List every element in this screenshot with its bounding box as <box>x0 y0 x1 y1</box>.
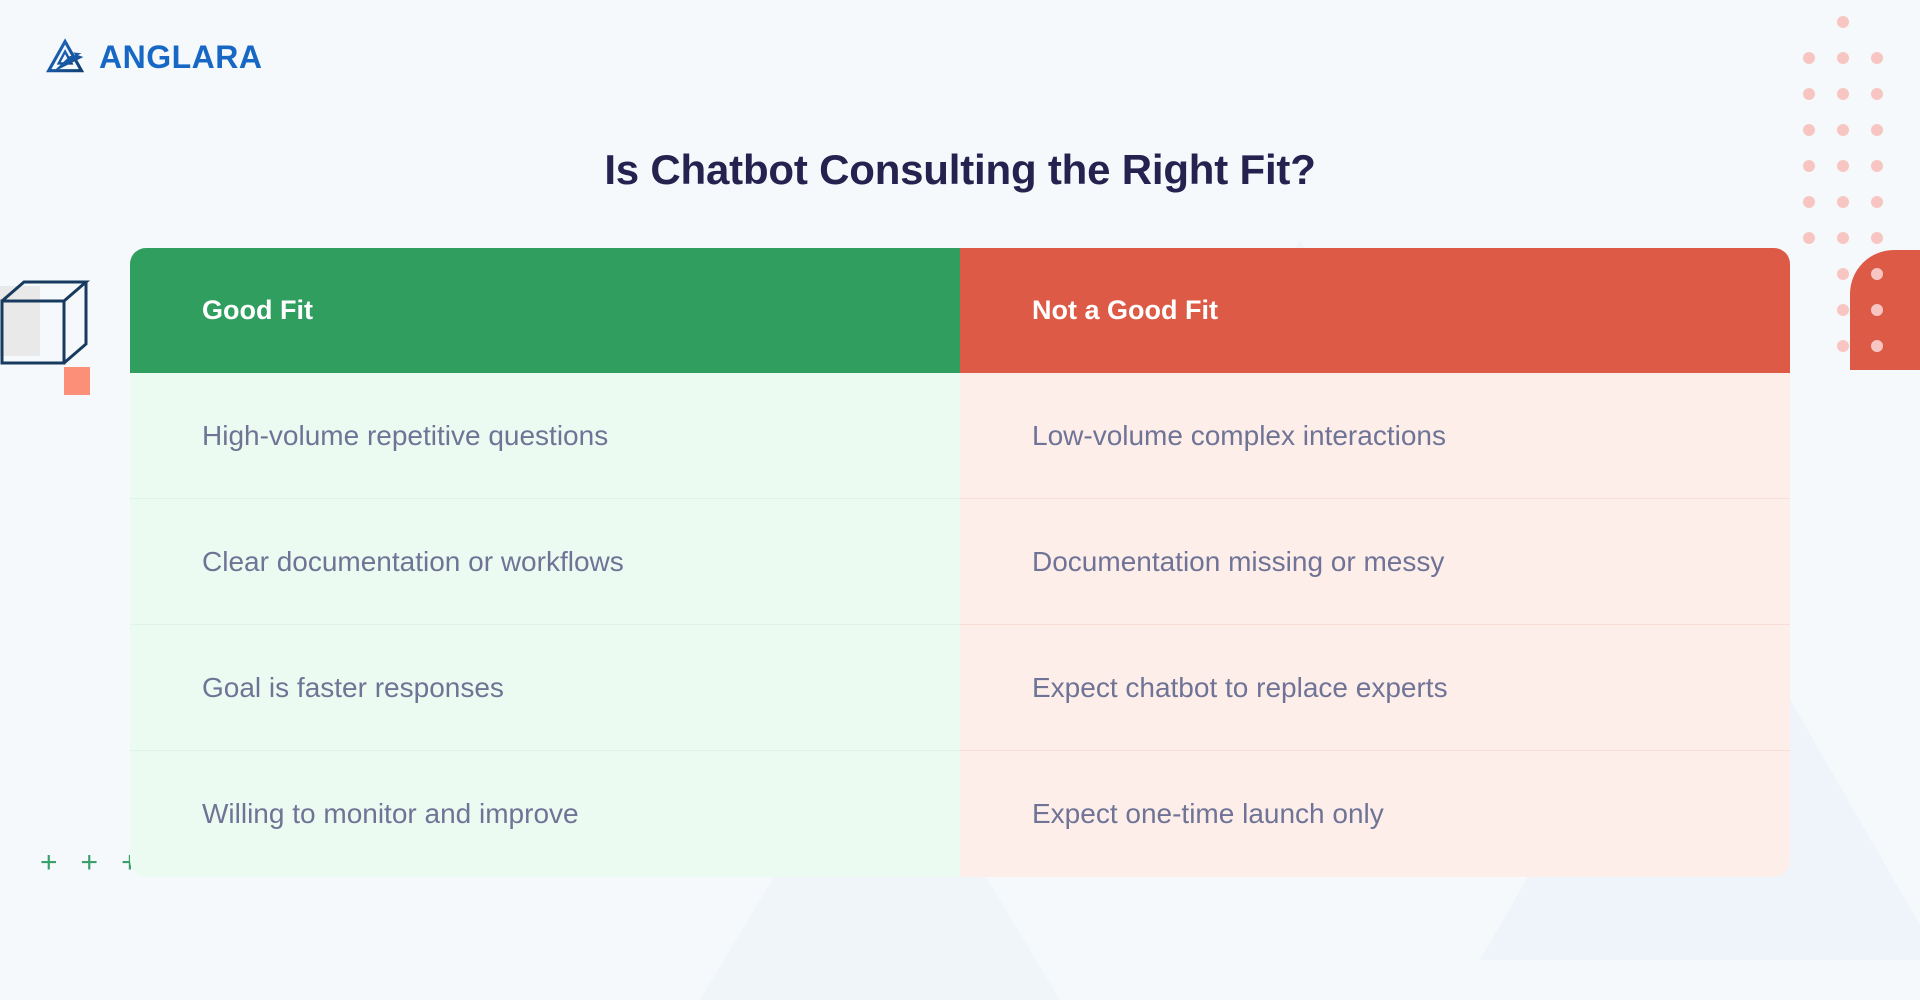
dot <box>1803 196 1815 208</box>
table-row: High-volume repetitive questions Low-vol… <box>130 373 1790 499</box>
dot <box>1803 88 1815 100</box>
dot <box>1837 124 1849 136</box>
dot <box>1803 232 1815 244</box>
cell-not-a-good-fit: Documentation missing or messy <box>960 499 1790 625</box>
red-blob-decoration <box>1850 250 1920 370</box>
dot <box>1871 268 1883 280</box>
table-header-row: Good Fit Not a Good Fit <box>130 248 1790 373</box>
dot <box>1837 52 1849 64</box>
table-row: Clear documentation or workflows Documen… <box>130 499 1790 625</box>
wireframe-cube-icon <box>0 278 120 408</box>
cube-outline-icon <box>0 278 120 408</box>
table-row: Goal is faster responses Expect chatbot … <box>130 625 1790 751</box>
column-header-good-fit: Good Fit <box>130 248 960 373</box>
dot <box>1871 52 1883 64</box>
cell-good-fit: Willing to monitor and improve <box>130 751 960 877</box>
dot <box>1837 304 1849 316</box>
cube-gray-square <box>0 286 40 356</box>
brand-name: ANGLARA <box>99 39 262 76</box>
cell-good-fit: Clear documentation or workflows <box>130 499 960 625</box>
dot <box>1871 196 1883 208</box>
cell-not-a-good-fit: Low-volume complex interactions <box>960 373 1790 499</box>
dot <box>1837 340 1849 352</box>
plus-mark: + <box>40 848 58 878</box>
dot <box>1871 232 1883 244</box>
dot <box>1837 196 1849 208</box>
dot <box>1837 268 1849 280</box>
dot <box>1837 16 1849 28</box>
dot <box>1871 88 1883 100</box>
plus-mark: + <box>81 848 99 878</box>
cell-not-a-good-fit: Expect chatbot to replace experts <box>960 625 1790 751</box>
dot <box>1871 304 1883 316</box>
column-header-not-a-good-fit: Not a Good Fit <box>960 248 1790 373</box>
dot <box>1871 340 1883 352</box>
cell-not-a-good-fit: Expect one-time launch only <box>960 751 1790 877</box>
anglara-triangle-arrow-icon <box>45 36 87 78</box>
dot <box>1837 88 1849 100</box>
cell-good-fit: Goal is faster responses <box>130 625 960 751</box>
cell-good-fit: High-volume repetitive questions <box>130 373 960 499</box>
table-row: Willing to monitor and improve Expect on… <box>130 751 1790 877</box>
dot <box>1803 52 1815 64</box>
cube-pink-square <box>64 367 90 395</box>
dot <box>1837 232 1849 244</box>
brand-logo[interactable]: ANGLARA <box>45 36 262 78</box>
comparison-table: Good Fit Not a Good Fit High-volume repe… <box>130 248 1790 877</box>
dot <box>1871 124 1883 136</box>
page-title: Is Chatbot Consulting the Right Fit? <box>0 146 1920 194</box>
dot <box>1803 124 1815 136</box>
